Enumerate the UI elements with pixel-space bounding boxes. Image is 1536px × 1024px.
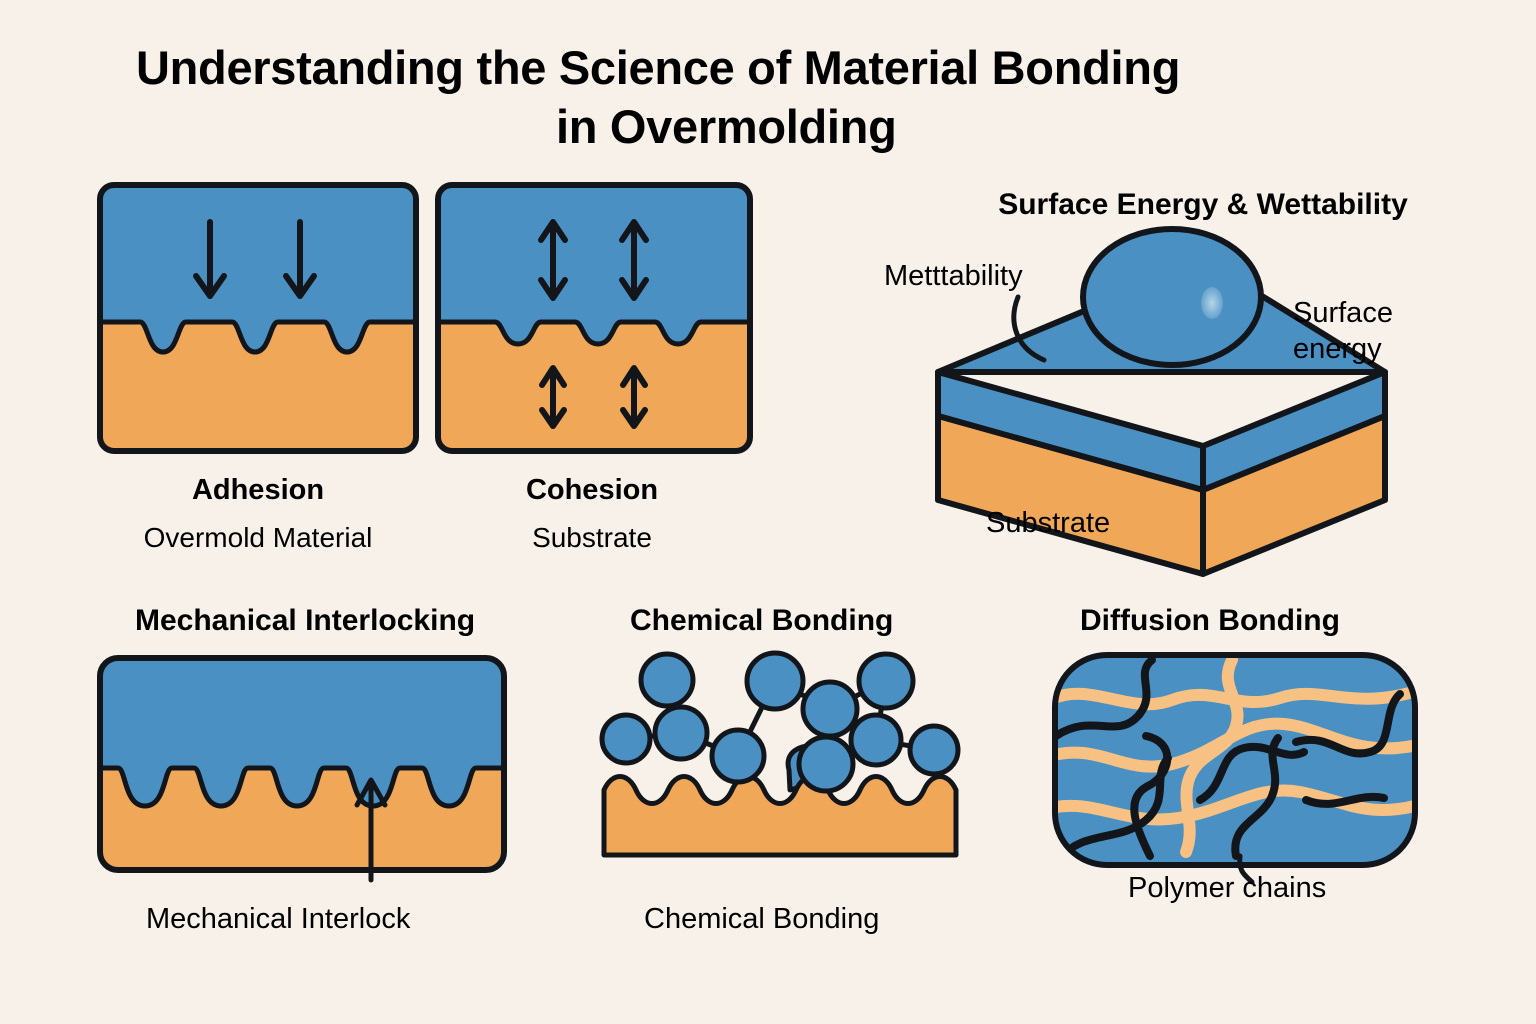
- mechanical-caption: Mechanical Interlock: [146, 903, 411, 935]
- mechanical-heading: Mechanical Interlocking: [135, 604, 475, 637]
- adhesion-caption-bold: Adhesion: [192, 474, 324, 506]
- panel-cohesion: Cohesion Substrate: [438, 185, 750, 553]
- chemical-caption: Chemical Bonding: [644, 903, 879, 935]
- page-title-line1: Understanding the Science of Material Bo…: [136, 41, 1180, 94]
- cohesion-caption-regular: Substrate: [532, 522, 652, 553]
- panel-chemical-bonding: Chemical Bonding: [602, 604, 958, 935]
- chemical-bond-nodes: [602, 653, 958, 791]
- infographic-canvas: Understanding the Science of Material Bo…: [0, 0, 1536, 1024]
- chemical-substrate: [604, 777, 956, 856]
- panel-wettability: Surface Energy & Wettability Metttabilit…: [884, 188, 1408, 574]
- chemical-heading: Chemical Bonding: [630, 604, 893, 637]
- cohesion-caption-bold: Cohesion: [526, 474, 658, 506]
- wettability-heading: Surface Energy & Wettability: [998, 188, 1408, 221]
- panel-diffusion-bonding: Diffusion Bonding: [1050, 604, 1422, 904]
- panel-adhesion: Adhesion Overmold Material: [100, 185, 416, 553]
- surface-energy-label-line2: energy: [1293, 333, 1382, 365]
- surface-energy-label-line1: Surface: [1293, 297, 1393, 329]
- panel-mechanical-interlocking: Mechanical Interlocking Mechanical Inter…: [100, 604, 504, 935]
- adhesion-caption-regular: Overmold Material: [144, 522, 373, 553]
- page-title-line2: in Overmolding: [556, 100, 897, 153]
- diffusion-heading: Diffusion Bonding: [1080, 604, 1340, 637]
- wettability-label-left: Metttability: [884, 260, 1023, 292]
- droplet-highlight: [1201, 287, 1223, 319]
- wettability-substrate-label: Substrate: [986, 507, 1110, 539]
- droplet: [1083, 229, 1261, 365]
- diffusion-caption: Polymer chains: [1128, 872, 1326, 904]
